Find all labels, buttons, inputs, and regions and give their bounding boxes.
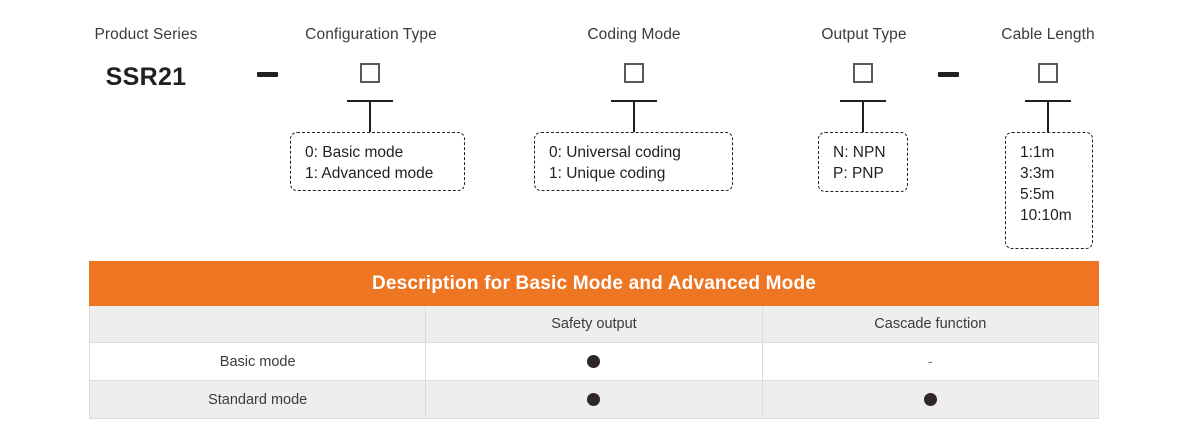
option-item: 5:5m bbox=[1006, 184, 1092, 205]
filled-dot-icon bbox=[587, 393, 600, 406]
slot-box-configuration-type bbox=[360, 63, 380, 83]
column-title-cable-length: Cable Length bbox=[1001, 26, 1094, 44]
row-label-standard-mode: Standard mode bbox=[90, 381, 426, 419]
options-configuration-type: 0: Basic mode 1: Advanced mode bbox=[290, 132, 465, 191]
table-title: Description for Basic Mode and Advanced … bbox=[90, 262, 1099, 306]
slot-box-output-type bbox=[853, 63, 873, 83]
options-output-type: N: NPN P: PNP bbox=[818, 132, 908, 192]
option-item: 0: Universal coding bbox=[535, 142, 732, 163]
option-item: 3:3m bbox=[1006, 163, 1092, 184]
column-title-product-series: Product Series bbox=[94, 26, 197, 44]
column-title-output-type: Output Type bbox=[821, 26, 906, 44]
cell-basic-safety-output bbox=[426, 343, 762, 381]
column-title-coding-mode: Coding Mode bbox=[587, 26, 680, 44]
column-title-configuration-type: Configuration Type bbox=[305, 26, 437, 44]
option-item: 10:10m bbox=[1006, 205, 1092, 226]
option-item: N: NPN bbox=[819, 142, 907, 163]
table-row: Standard mode bbox=[90, 381, 1099, 419]
option-item: 1:1m bbox=[1006, 142, 1092, 163]
column-header-cascade-function: Cascade function bbox=[762, 306, 1098, 343]
product-series-code: SSR21 bbox=[106, 63, 187, 92]
cell-standard-safety-output bbox=[426, 381, 762, 419]
filled-dot-icon bbox=[924, 393, 937, 406]
cell-basic-cascade-function: - bbox=[762, 343, 1098, 381]
table-row: Basic mode - bbox=[90, 343, 1099, 381]
table-title-row: Description for Basic Mode and Advanced … bbox=[90, 262, 1099, 306]
option-item: 1: Unique coding bbox=[535, 163, 732, 184]
mode-description-table: Description for Basic Mode and Advanced … bbox=[89, 261, 1099, 419]
separator-dash-1 bbox=[257, 72, 278, 77]
row-label-basic-mode: Basic mode bbox=[90, 343, 426, 381]
separator-dash-2 bbox=[938, 72, 959, 77]
option-item: P: PNP bbox=[819, 163, 907, 184]
options-cable-length: 1:1m 3:3m 5:5m 10:10m bbox=[1005, 132, 1093, 249]
not-available-mark: - bbox=[928, 354, 933, 368]
slot-box-cable-length bbox=[1038, 63, 1058, 83]
options-coding-mode: 0: Universal coding 1: Unique coding bbox=[534, 132, 733, 191]
slot-box-coding-mode bbox=[624, 63, 644, 83]
part-number-decoder: Product Series Configuration Type Coding… bbox=[0, 0, 1200, 258]
column-header-blank bbox=[90, 306, 426, 343]
option-item: 0: Basic mode bbox=[291, 142, 464, 163]
column-header-safety-output: Safety output bbox=[426, 306, 762, 343]
table-header-row: Safety output Cascade function bbox=[90, 306, 1099, 343]
filled-dot-icon bbox=[587, 355, 600, 368]
cell-standard-cascade-function bbox=[762, 381, 1098, 419]
option-item: 1: Advanced mode bbox=[291, 163, 464, 184]
